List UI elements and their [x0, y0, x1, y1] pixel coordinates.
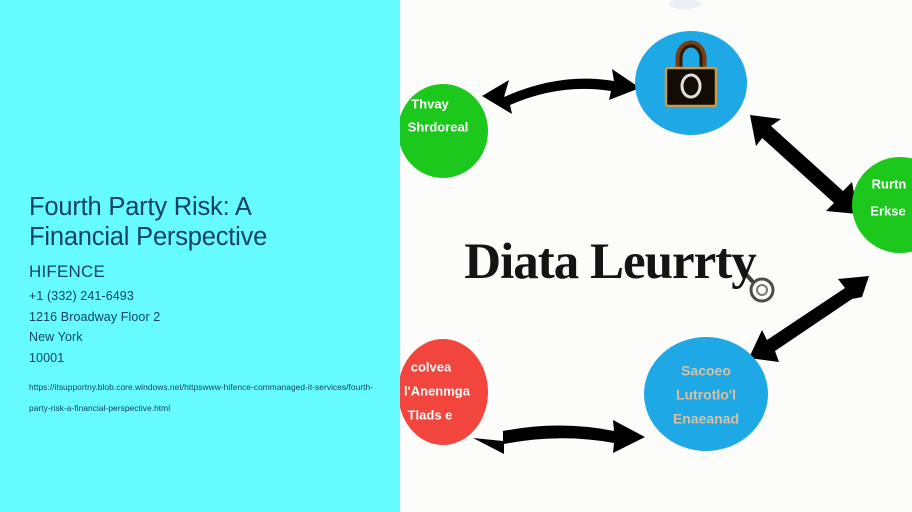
node-red-label-line3: Tlads e [408, 407, 453, 422]
node-green-left-label-line2: Shrdoreal [408, 119, 469, 134]
double-arrow-top-right [750, 115, 858, 214]
node-green-left-label-line1: Thvay [411, 96, 449, 111]
node-green-right[interactable]: Rurtn Erkse [852, 157, 912, 253]
node-blue-bottom[interactable]: Sacoeo Lutrotlo'l Enaeanad [644, 337, 768, 451]
node-blue-bottom-label-line2: Lutrotlo'l [676, 387, 736, 403]
contact-zip: 10001 [29, 348, 377, 369]
node-blue-bottom-label-line3: Enaeanad [673, 411, 739, 427]
node-blue-bottom-label-line1: Sacoeo [681, 363, 731, 379]
node-green-right-label-line1: Rurtn [872, 176, 907, 191]
screenshot-root: Fourth Party Risk: A Financial Perspecti… [0, 0, 912, 512]
diagram-center-title: Diata Leurrty [400, 235, 820, 290]
node-red-bottom-left[interactable]: colvea l'Anenmga Tlads e [400, 339, 488, 445]
node-blue-top[interactable] [635, 31, 747, 135]
page-title: Fourth Party Risk: A Financial Perspecti… [29, 192, 377, 252]
double-arrow-bottom [473, 420, 645, 454]
node-green-left[interactable]: Thvay Shrdoreal [400, 84, 488, 178]
contact-phone: +1 (332) 241-6493 [29, 286, 377, 307]
node-green-right-label-line2: Erkse [870, 203, 905, 218]
left-info-panel: Fourth Party Risk: A Financial Perspecti… [0, 0, 400, 512]
double-arrow-top-left [482, 69, 640, 114]
node-red-label-line1: colvea [411, 359, 452, 374]
source-url-link[interactable]: https://itsupportny.blob.core.windows.ne… [29, 377, 374, 419]
contact-address: 1216 Broadway Floor 2 [29, 307, 377, 328]
brand-name: HIFENCE [29, 261, 377, 283]
left-panel-content: Fourth Party Risk: A Financial Perspecti… [29, 192, 377, 419]
node-red-label-line2: l'Anenmga [404, 383, 471, 398]
diagram-panel: Thvay Shrdoreal Rurtn [400, 0, 912, 512]
contact-city: New York [29, 327, 377, 348]
top-edge-smudge [669, 0, 701, 9]
